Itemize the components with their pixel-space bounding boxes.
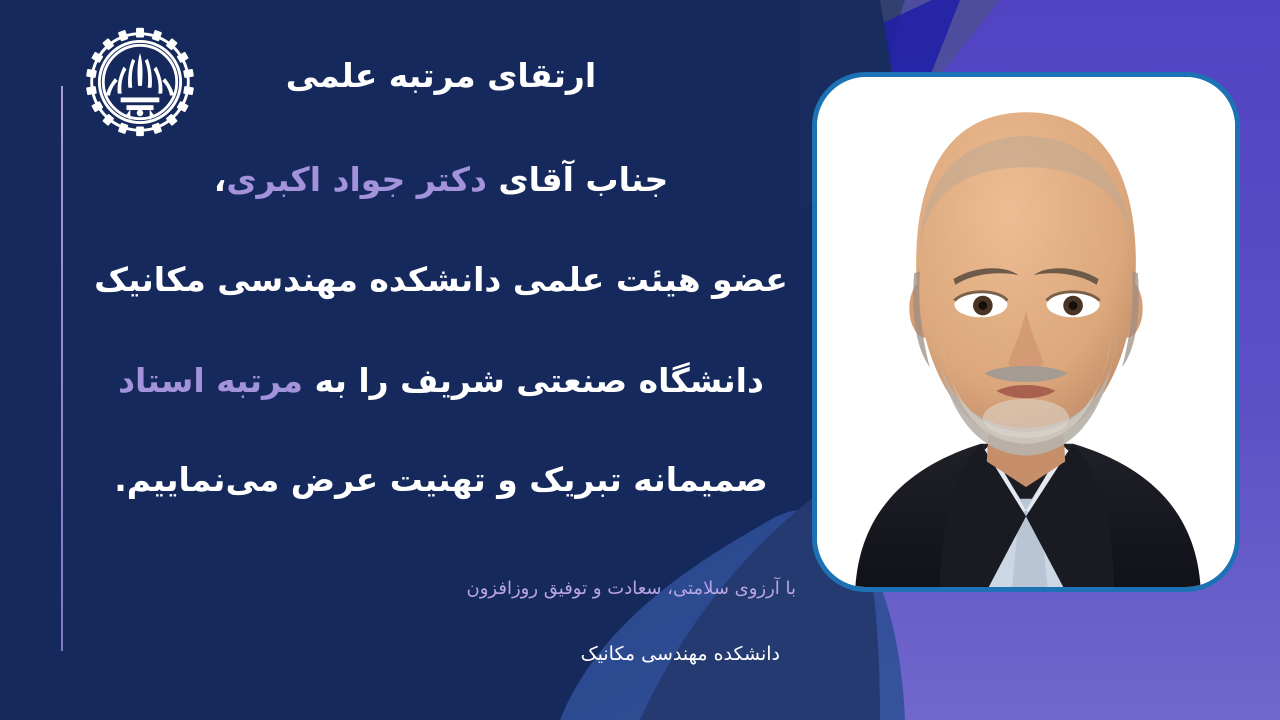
department-signature: دانشکده مهندسی مکانیک [80, 643, 802, 665]
left-accent-line [61, 86, 63, 651]
affiliation-text: عضو هیئت علمی دانشکده مهندسی مکانیک [94, 260, 788, 299]
text-content: ارتقای مرتبه علمی جناب آقای دکتر جواد اک… [80, 0, 802, 720]
congratulation-text: صمیمانه تبریک و تهنیت عرض می‌نماییم. [114, 460, 767, 499]
promotion-prefix: دانشگاه صنعتی شریف را به [303, 361, 764, 400]
portrait-photo [817, 77, 1235, 587]
announcement-slide: ارتقای مرتبه علمی جناب آقای دکتر جواد اک… [0, 0, 1280, 720]
recipient-prefix: جناب آقای [487, 160, 668, 199]
well-wishes-text: با آرزوی سلامتی، سعادت و توفیق روزافزون [80, 578, 802, 599]
promotion-line: دانشگاه صنعتی شریف را به مرتبه استاد [80, 363, 802, 399]
promotion-rank: مرتبه استاد [118, 361, 303, 400]
portrait-frame [812, 72, 1240, 592]
affiliation-line: عضو هیئت علمی دانشکده مهندسی مکانیک [80, 262, 802, 298]
recipient-name: دکتر جواد اکبری [226, 160, 487, 199]
recipient-line: جناب آقای دکتر جواد اکبری، [80, 162, 802, 198]
page-title: ارتقای مرتبه علمی [80, 58, 802, 94]
recipient-suffix: ، [214, 160, 227, 199]
congratulation-line: صمیمانه تبریک و تهنیت عرض می‌نماییم. [80, 462, 802, 498]
